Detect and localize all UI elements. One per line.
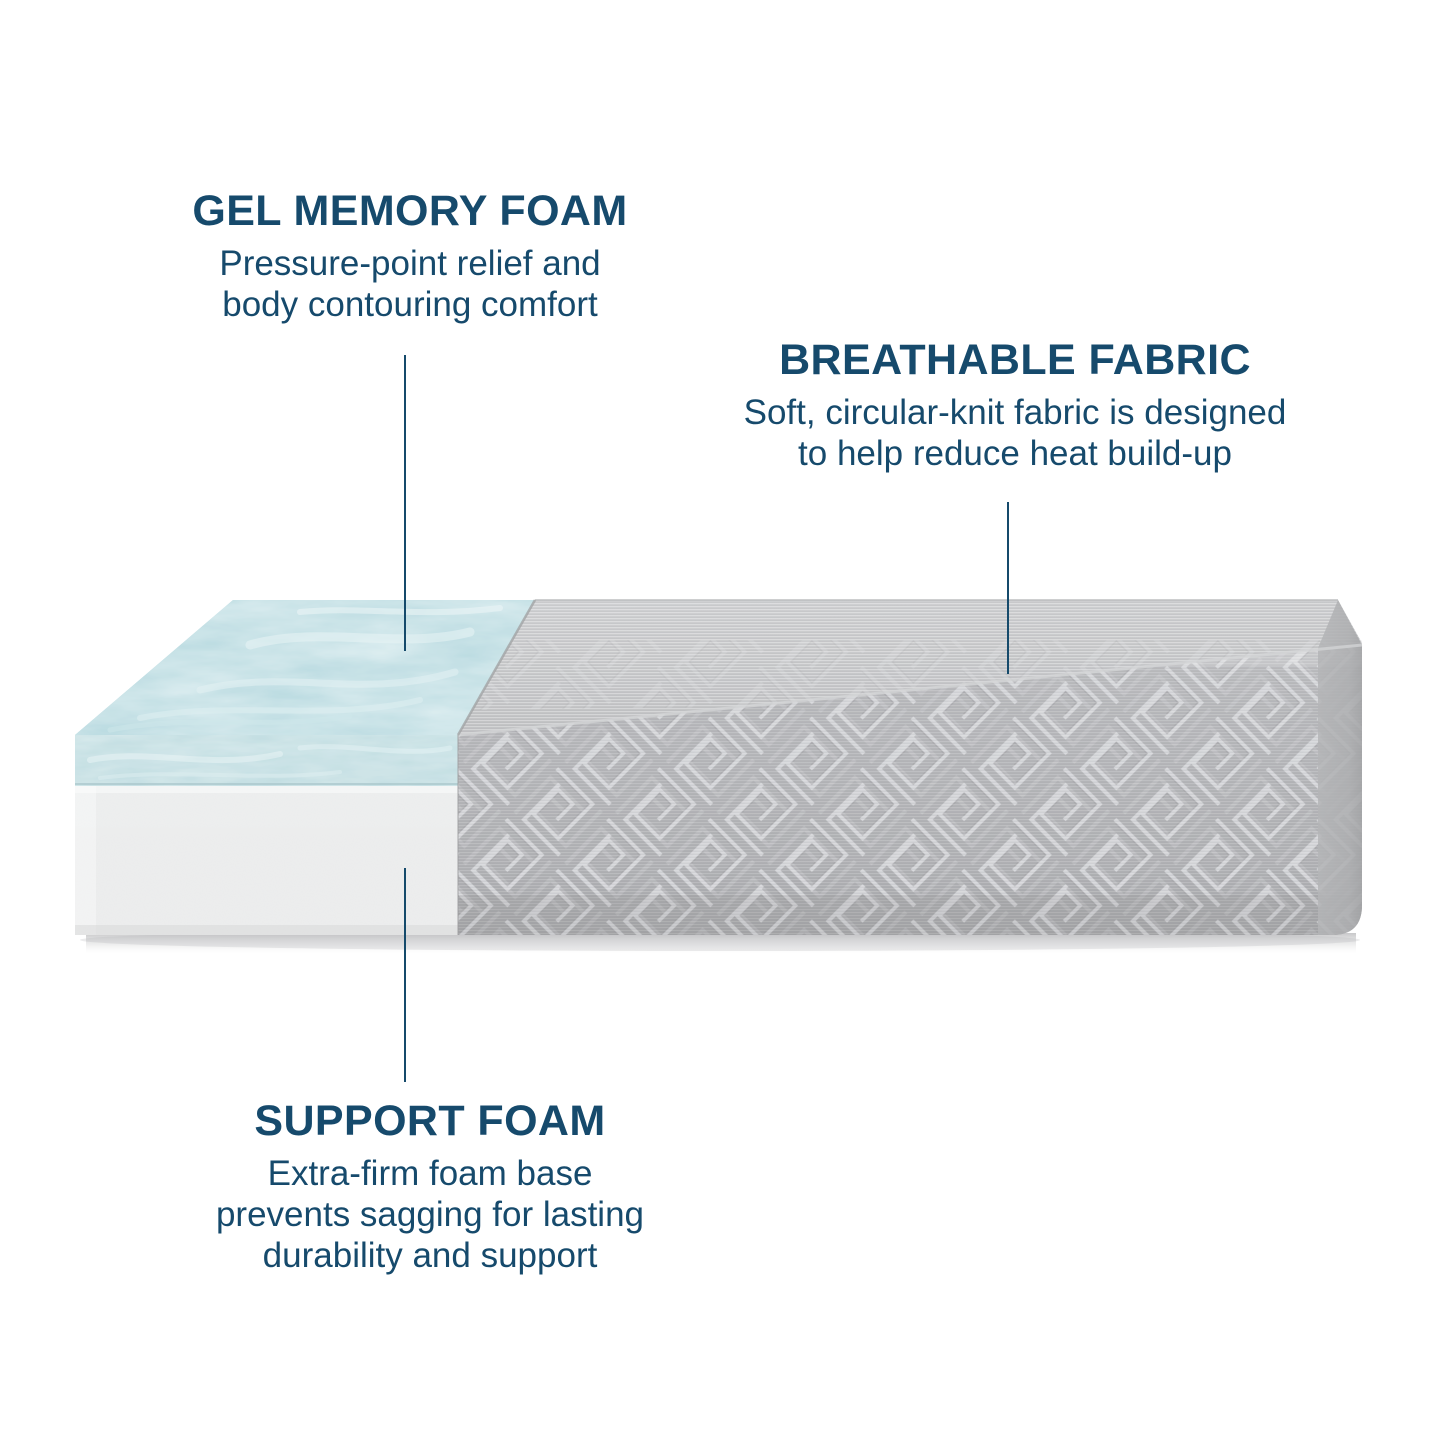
callout-body-line: durability and support — [150, 1235, 710, 1276]
callout-title-support-foam: SUPPORT FOAM — [150, 1096, 710, 1147]
callout-body-line: Soft, circular-knit fabric is designed — [690, 392, 1340, 433]
callout-gel-memory-foam: GEL MEMORY FOAM Pressure-point relief an… — [100, 186, 720, 325]
callout-support-foam: SUPPORT FOAM Extra-firm foam base preven… — [150, 1096, 710, 1277]
callout-body-line: to help reduce heat build-up — [690, 433, 1340, 474]
callout-body-line: prevents sagging for lasting — [150, 1194, 710, 1235]
gel-memory-foam-layer — [75, 600, 535, 786]
callout-title-gel-memory-foam: GEL MEMORY FOAM — [100, 186, 720, 237]
leader-line-breathable-fabric — [1007, 502, 1009, 674]
support-foam-layer — [75, 786, 458, 935]
callout-body-support-foam: Extra-firm foam base prevents sagging fo… — [150, 1153, 710, 1277]
callout-body-line: Extra-firm foam base — [150, 1153, 710, 1194]
leader-line-gel-memory-foam — [404, 355, 406, 651]
callout-body-breathable-fabric: Soft, circular-knit fabric is designed t… — [690, 392, 1340, 475]
callout-body-gel-memory-foam: Pressure-point relief and body contourin… — [100, 243, 720, 326]
callout-title-breathable-fabric: BREATHABLE FABRIC — [690, 335, 1340, 386]
infographic-canvas: GEL MEMORY FOAM Pressure-point relief an… — [0, 0, 1445, 1445]
callout-body-line: body contouring comfort — [100, 284, 720, 325]
mattress-shadow — [80, 929, 1360, 955]
callout-breathable-fabric: BREATHABLE FABRIC Soft, circular-knit fa… — [690, 335, 1340, 474]
breathable-fabric-cover — [450, 600, 1375, 940]
callout-body-line: Pressure-point relief and — [100, 243, 720, 284]
leader-line-support-foam — [404, 868, 406, 1082]
